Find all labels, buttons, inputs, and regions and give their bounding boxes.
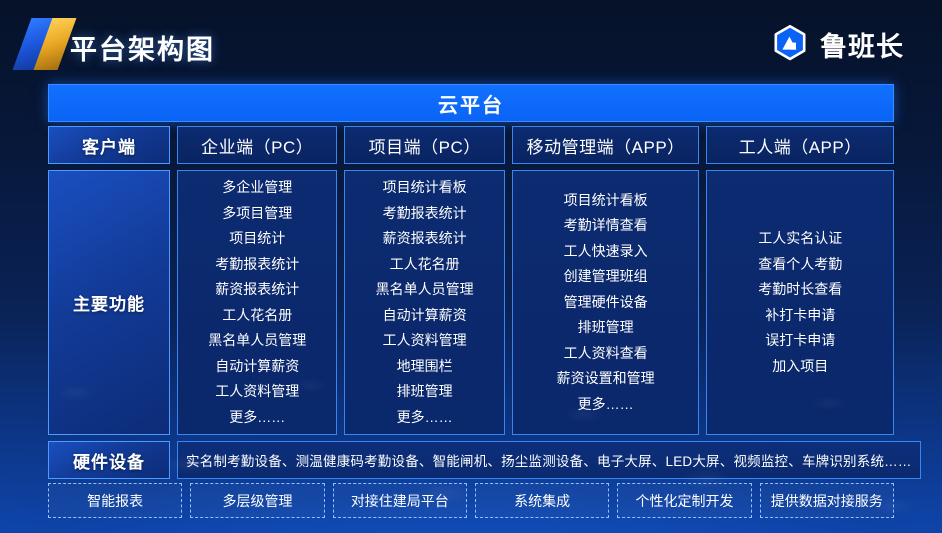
list-item-more[interactable]: 更多……	[578, 392, 634, 418]
list-item[interactable]: 薪资设置和管理	[557, 366, 655, 392]
list-item[interactable]: 考勤详情查看	[564, 213, 648, 239]
service-chip-multilevel-management-label: 多层级管理	[222, 491, 292, 511]
list-item[interactable]: 工人资料管理	[383, 328, 467, 354]
column-header-project-pc[interactable]: 项目端（PC）	[344, 126, 504, 164]
feature-list-enterprise-pc: 多企业管理 多项目管理 项目统计 考勤报表统计 薪资报表统计 工人花名册 黑名单…	[177, 170, 337, 435]
service-chip-system-integration-label: 系统集成	[514, 491, 570, 511]
list-item[interactable]: 项目统计看板	[383, 175, 467, 201]
hardware-device-list: 实名制考勤设备、测温健康码考勤设备、智能闸机、扬尘监测设备、电子大屏、LED大屏…	[177, 441, 921, 479]
list-item[interactable]: 工人资料查看	[564, 341, 648, 367]
architecture-matrix: 客户端 企业端（PC） 项目端（PC） 移动管理端（APP） 工人端（APP） …	[48, 126, 894, 479]
list-item[interactable]: 补打卡申请	[765, 303, 835, 329]
feature-list-worker-app: 工人实名认证 查看个人考勤 考勤时长查看 补打卡申请 误打卡申请 加入项目	[706, 170, 894, 435]
column-header-mobile-admin-app[interactable]: 移动管理端（APP）	[512, 126, 700, 164]
service-chip-data-integration-service[interactable]: 提供数据对接服务	[760, 483, 894, 518]
column-header-worker-app[interactable]: 工人端（APP）	[706, 126, 894, 164]
row-label-main-functions: 主要功能	[48, 170, 170, 435]
service-chip-smart-report[interactable]: 智能报表	[48, 483, 182, 518]
cloud-platform-banner: 云平台	[48, 84, 894, 122]
list-item[interactable]: 排班管理	[578, 315, 634, 341]
matrix-header-row: 客户端 企业端（PC） 项目端（PC） 移动管理端（APP） 工人端（APP）	[48, 126, 894, 164]
feature-list-project-pc: 项目统计看板 考勤报表统计 薪资报表统计 工人花名册 黑名单人员管理 自动计算薪…	[344, 170, 504, 435]
page-title: 平台架构图	[70, 28, 215, 67]
brand-logo: 鲁班长	[770, 24, 904, 64]
row-label-client: 客户端	[48, 126, 170, 164]
feature-list-mobile-admin-app: 项目统计看板 考勤详情查看 工人快速录入 创建管理班组 管理硬件设备 排班管理 …	[512, 170, 700, 435]
list-item[interactable]: 多项目管理	[222, 201, 292, 227]
list-item[interactable]: 工人花名册	[222, 303, 292, 329]
list-item-more[interactable]: 更多……	[229, 405, 285, 431]
list-item[interactable]: 多企业管理	[222, 175, 292, 201]
list-item[interactable]: 加入项目	[772, 354, 828, 380]
list-item[interactable]: 黑名单人员管理	[376, 277, 474, 303]
list-item-more[interactable]: 更多……	[397, 405, 453, 431]
list-item[interactable]: 误打卡申请	[765, 328, 835, 354]
list-item[interactable]: 考勤报表统计	[215, 252, 299, 278]
list-item[interactable]: 查看个人考勤	[758, 252, 842, 278]
page-header: 平台架构图 鲁班长	[0, 0, 942, 82]
column-header-worker-app-text: 工人端（APP）	[739, 133, 862, 158]
service-chip-housing-bureau-integration-label: 对接住建局平台	[351, 491, 449, 511]
list-item[interactable]: 项目统计看板	[564, 188, 648, 214]
column-header-enterprise-pc[interactable]: 企业端（PC）	[177, 126, 337, 164]
row-label-main-functions-text: 主要功能	[73, 290, 145, 315]
row-label-hardware: 硬件设备	[48, 441, 170, 479]
list-item[interactable]: 工人资料管理	[215, 379, 299, 405]
hexagon-building-icon	[770, 24, 810, 64]
column-header-project-pc-text: 项目端（PC）	[369, 133, 481, 158]
double-slash-icon	[16, 18, 74, 70]
row-label-hardware-text: 硬件设备	[73, 448, 145, 473]
service-chip-multilevel-management[interactable]: 多层级管理	[190, 483, 324, 518]
service-chip-row: 智能报表 多层级管理 对接住建局平台 系统集成 个性化定制开发 提供数据对接服务	[48, 483, 894, 518]
list-item[interactable]: 项目统计	[229, 226, 285, 252]
brand-logo-text: 鲁班长	[820, 25, 904, 64]
list-item[interactable]: 地理围栏	[397, 354, 453, 380]
list-item[interactable]: 管理硬件设备	[564, 290, 648, 316]
list-item[interactable]: 自动计算薪资	[383, 303, 467, 329]
list-item[interactable]: 薪资报表统计	[215, 277, 299, 303]
service-chip-smart-report-label: 智能报表	[87, 491, 143, 511]
list-item[interactable]: 考勤时长查看	[758, 277, 842, 303]
list-item[interactable]: 工人快速录入	[564, 239, 648, 265]
cloud-platform-label: 云平台	[438, 89, 504, 118]
matrix-body-row: 主要功能 多企业管理 多项目管理 项目统计 考勤报表统计 薪资报表统计 工人花名…	[48, 170, 894, 435]
hardware-device-list-text: 实名制考勤设备、测温健康码考勤设备、智能闸机、扬尘监测设备、电子大屏、LED大屏…	[186, 450, 912, 470]
list-item[interactable]: 考勤报表统计	[383, 201, 467, 227]
list-item[interactable]: 黑名单人员管理	[208, 328, 306, 354]
service-chip-system-integration[interactable]: 系统集成	[475, 483, 609, 518]
list-item[interactable]: 工人花名册	[390, 252, 460, 278]
list-item[interactable]: 排班管理	[397, 379, 453, 405]
list-item[interactable]: 自动计算薪资	[215, 354, 299, 380]
list-item[interactable]: 工人实名认证	[758, 226, 842, 252]
platform-architecture-diagram: 平台架构图 鲁班长 云平台 客户端 企业端（PC） 项目端（PC）	[0, 0, 942, 533]
service-chip-data-integration-service-label: 提供数据对接服务	[771, 491, 883, 511]
list-item[interactable]: 薪资报表统计	[383, 226, 467, 252]
row-label-client-text: 客户端	[82, 133, 136, 158]
column-header-mobile-admin-app-text: 移动管理端（APP）	[527, 133, 685, 158]
matrix-hardware-row: 硬件设备 实名制考勤设备、测温健康码考勤设备、智能闸机、扬尘监测设备、电子大屏、…	[48, 441, 894, 479]
service-chip-custom-development[interactable]: 个性化定制开发	[617, 483, 751, 518]
column-header-enterprise-pc-text: 企业端（PC）	[201, 133, 313, 158]
list-item[interactable]: 创建管理班组	[564, 264, 648, 290]
service-chip-custom-development-label: 个性化定制开发	[635, 491, 733, 511]
service-chip-housing-bureau-integration[interactable]: 对接住建局平台	[333, 483, 467, 518]
